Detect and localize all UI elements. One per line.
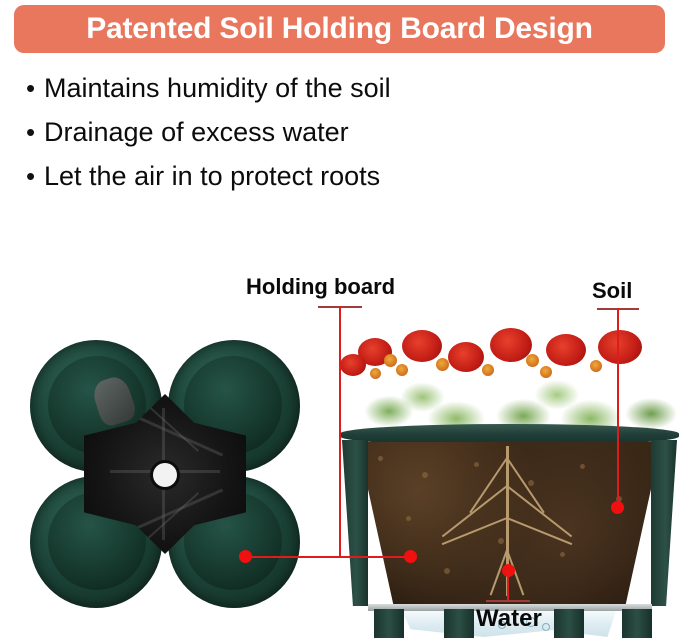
board-center-hole [153, 463, 177, 487]
red-flower [340, 354, 366, 376]
orange-flower [370, 368, 381, 379]
page-title: Patented Soil Holding Board Design [14, 5, 665, 53]
callout-label-soil: Soil [592, 278, 632, 304]
red-flower [598, 330, 642, 364]
leader-dot-board [239, 550, 252, 563]
bullet-icon: • [26, 72, 44, 105]
feature-list: • Maintains humidity of the soil • Drain… [26, 72, 586, 204]
leader-cap-water [486, 600, 530, 602]
soil-fill [348, 442, 671, 604]
red-flower [402, 330, 442, 362]
leader-dot-soil [611, 501, 624, 514]
orange-flower [526, 354, 539, 367]
orange-flower [436, 358, 449, 371]
list-item: • Maintains humidity of the soil [26, 72, 586, 105]
planter-leg [374, 609, 404, 638]
list-item: • Let the air in to protect roots [26, 160, 586, 193]
bullet-icon: • [26, 116, 44, 149]
leader-line-soil [617, 308, 619, 510]
planter-wall-right [651, 440, 677, 606]
planter-leg [622, 609, 652, 638]
soil-holding-board-image [22, 338, 308, 610]
planter-leg [444, 609, 474, 638]
list-item-label: Drainage of excess water [44, 116, 349, 149]
list-item-label: Let the air in to protect roots [44, 160, 380, 193]
leader-line-holding-board-vertical [339, 306, 341, 558]
list-item-label: Maintains humidity of the soil [44, 72, 391, 105]
orange-flower [590, 360, 602, 372]
bullet-icon: • [26, 160, 44, 193]
leader-line-holding-board-horizontal [245, 556, 417, 558]
leader-line-water [507, 570, 509, 600]
orange-flower [396, 364, 408, 376]
header-banner: Patented Soil Holding Board Design [14, 5, 665, 53]
leader-dot-planter [404, 550, 417, 563]
red-flower [448, 342, 484, 372]
orange-flower [482, 364, 494, 376]
plant-root [506, 457, 545, 513]
list-item: • Drainage of excess water [26, 116, 586, 149]
callout-label-holding-board: Holding board [246, 274, 395, 300]
orange-flower [540, 366, 552, 378]
planter-wall-left [342, 440, 368, 606]
product-diagram: Holding board Soil Water [0, 250, 679, 638]
product-infographic: Patented Soil Holding Board Design • Mai… [0, 0, 679, 638]
callout-label-water: Water [476, 605, 542, 633]
planter-leg [554, 609, 584, 638]
orange-flower [384, 354, 397, 367]
red-flower [546, 334, 586, 366]
